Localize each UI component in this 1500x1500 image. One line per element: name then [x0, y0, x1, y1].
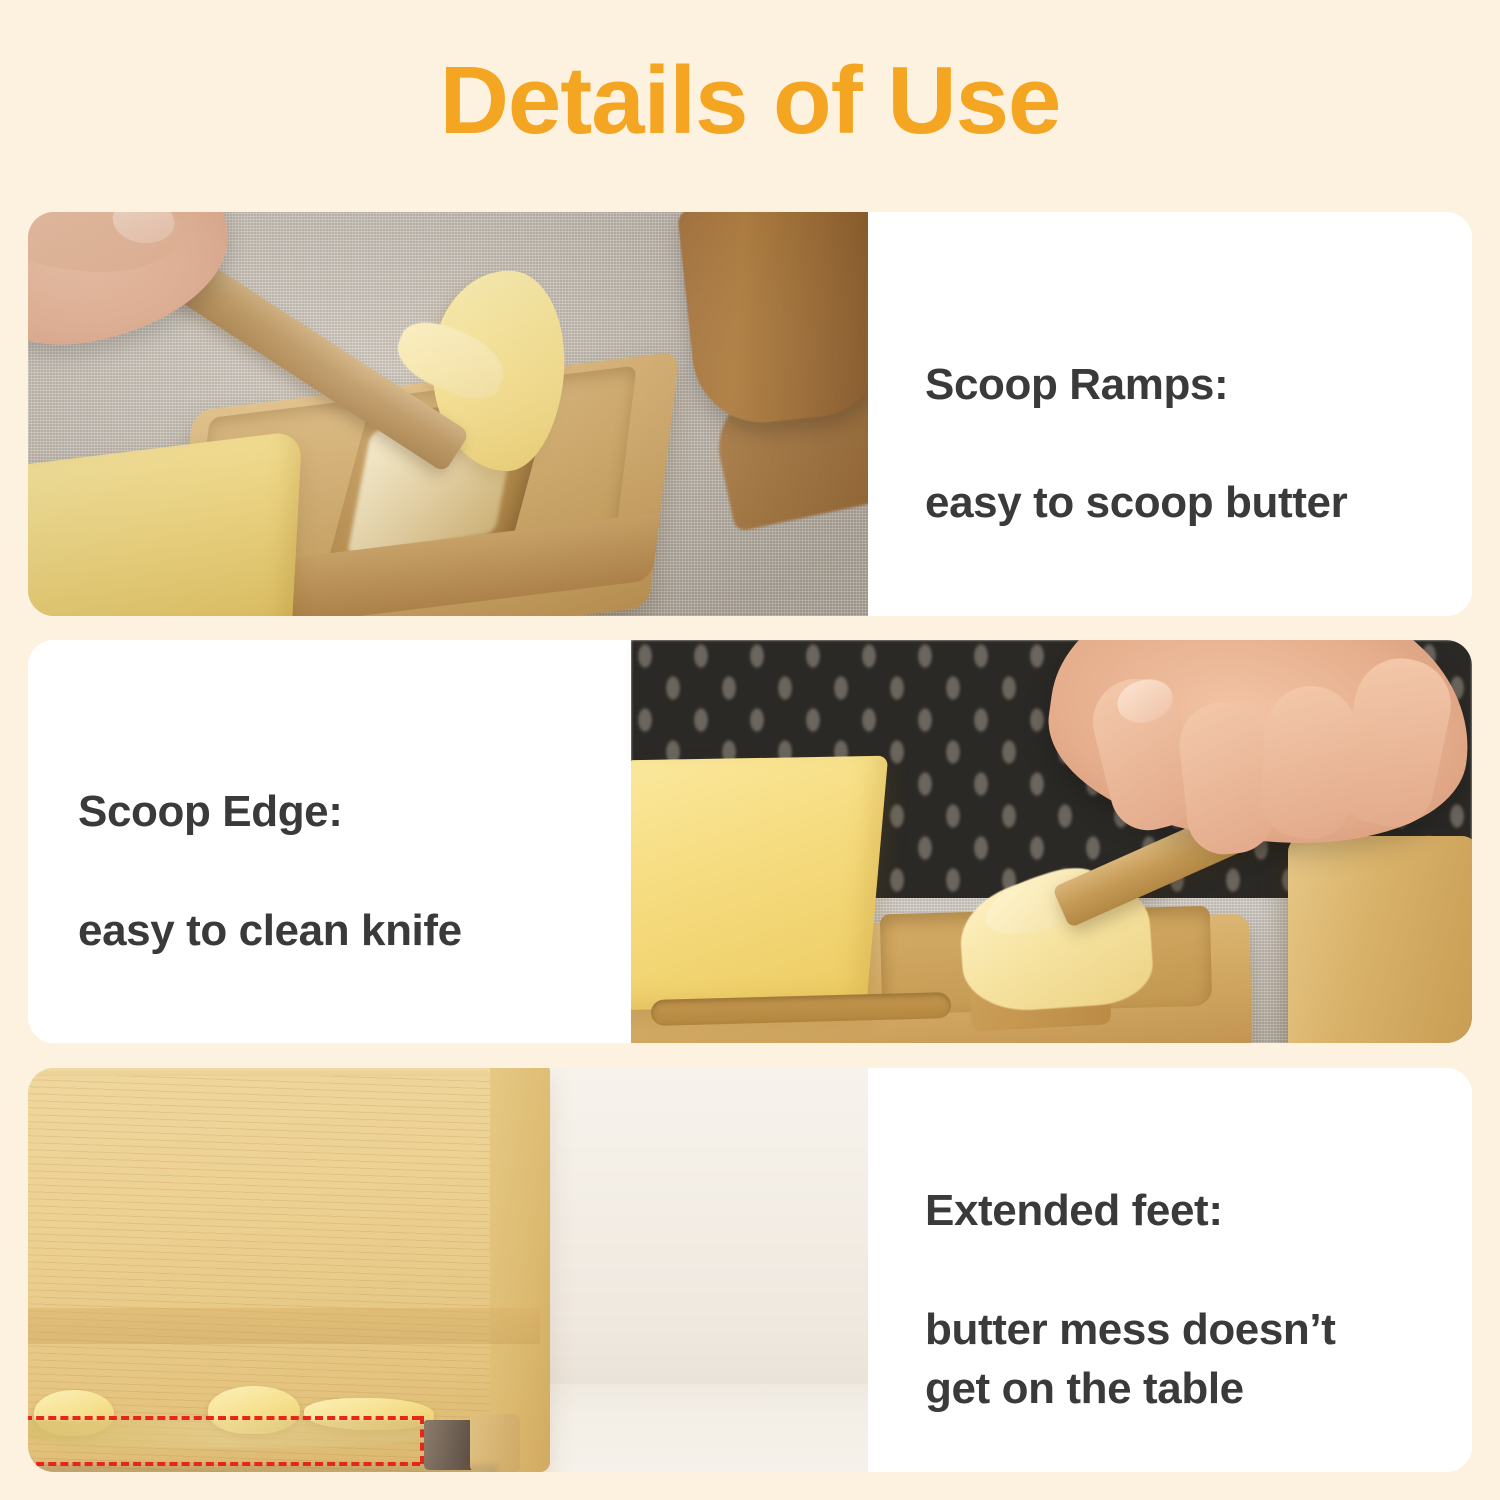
photo-extended-feet — [28, 1068, 868, 1472]
caption-body-extended-feet: butter mess doesn’t get on the table — [925, 1305, 1336, 1413]
caption-body-scoop-edge: easy to clean knife — [78, 906, 462, 955]
feature-card-extended-feet: Extended feet: butter mess doesn’t get o… — [28, 1068, 1472, 1472]
caption-pane-scoop-edge: Scoop Edge: easy to clean knife — [28, 640, 631, 1043]
caption-scoop-ramps: Scoop Ramps: easy to scoop butter — [925, 295, 1347, 533]
annotation-dashed-line-top — [28, 1416, 420, 1420]
annotation-dashed-line-bottom — [28, 1462, 420, 1466]
caption-heading-scoop-ramps: Scoop Ramps: — [925, 360, 1228, 409]
feature-card-scoop-ramps: Scoop Ramps: easy to scoop butter — [28, 212, 1472, 616]
butter-residue-smear — [28, 1420, 428, 1448]
feature-card-scoop-edge: Scoop Edge: easy to clean knife — [28, 640, 1472, 1043]
bamboo-block-right — [1288, 836, 1472, 1043]
annotation-dashed-line-right — [420, 1416, 424, 1464]
caption-heading-scoop-edge: Scoop Edge: — [78, 787, 343, 836]
caption-scoop-edge: Scoop Edge: easy to clean knife — [78, 723, 462, 961]
background-object — [543, 1068, 868, 1438]
caption-body-scoop-ramps: easy to scoop butter — [925, 478, 1347, 527]
dish-lower-band — [28, 1308, 540, 1344]
butter-slab — [631, 756, 888, 1010]
photo-scoop-edge — [631, 640, 1472, 1043]
caption-extended-feet: Extended feet: butter mess doesn’t get o… — [925, 1122, 1336, 1419]
caption-pane-scoop-ramps: Scoop Ramps: easy to scoop butter — [868, 212, 1472, 616]
photo-vignette — [28, 212, 868, 616]
dish-right-side — [490, 1068, 550, 1472]
extended-foot — [424, 1420, 476, 1470]
caption-heading-extended-feet: Extended feet: — [925, 1186, 1223, 1235]
photo-scoop-ramps — [28, 212, 868, 616]
caption-pane-extended-feet: Extended feet: butter mess doesn’t get o… — [868, 1068, 1472, 1472]
dish-top-edge — [28, 1068, 540, 1076]
page-title: Details of Use — [0, 48, 1500, 154]
